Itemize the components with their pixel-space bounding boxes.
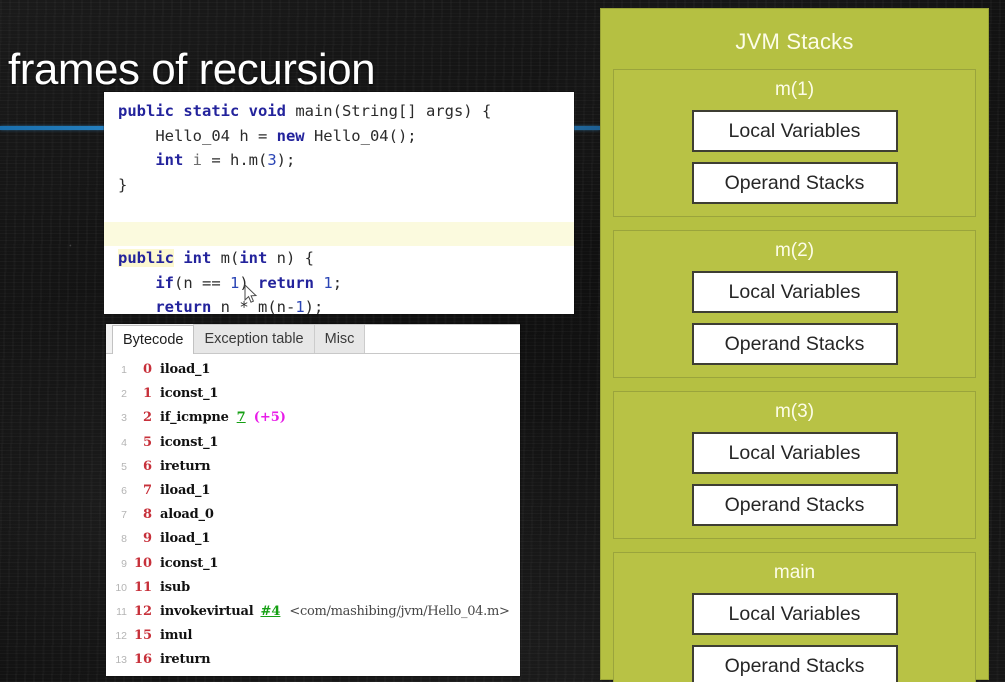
bytecode-mnemonic: if_icmpne — [160, 410, 229, 425]
code-token: 1 — [230, 274, 239, 292]
stack-frame-label: m(1) — [614, 76, 975, 110]
bytecode-row[interactable]: 67iload_1 — [106, 483, 520, 507]
code-token: return — [155, 298, 211, 314]
bytecode-offset: 2 — [134, 410, 160, 425]
code-token — [174, 249, 183, 267]
bytecode-viewer-panel[interactable]: BytecodeException tableMisc. 10iload_121… — [106, 324, 520, 676]
code-line: if(n == 1) return 1; — [104, 271, 574, 296]
stack-frame-m2: m(2)Local VariablesOperand Stacks — [613, 230, 976, 378]
bytecode-offset: 6 — [134, 459, 160, 474]
bytecode-offset: 5 — [134, 435, 160, 450]
stack-frame-label: main — [614, 559, 975, 593]
code-token: i — [183, 151, 211, 169]
bytecode-row[interactable]: 21iconst_1 — [106, 386, 520, 410]
bytecode-offset: 16 — [134, 652, 160, 667]
tab-bar-filler: . — [364, 324, 520, 353]
bytecode-line-number: 10 — [106, 582, 134, 594]
code-token: public — [118, 249, 174, 267]
code-token: new — [277, 127, 305, 145]
code-token: 3 — [267, 151, 276, 169]
code-line-list: public static void main(String[] args) {… — [104, 99, 574, 314]
bytecode-mnemonic: isub — [160, 580, 190, 595]
bytecode-constpool-ref[interactable]: #4 — [260, 604, 280, 619]
bytecode-mnemonic: iconst_1 — [160, 556, 218, 571]
bytecode-offset: 1 — [134, 386, 160, 401]
code-line: Hello_04 h = new Hello_04(); — [104, 124, 574, 149]
code-token: return — [258, 274, 314, 292]
frame-slot-operand-stacks: Operand Stacks — [692, 645, 898, 682]
code-token: 1 — [323, 274, 332, 292]
bytecode-row[interactable]: 1011isub — [106, 580, 520, 604]
bytecode-mnemonic: iconst_1 — [160, 386, 218, 401]
bytecode-row[interactable]: 45iconst_1 — [106, 435, 520, 459]
bytecode-line-number: 11 — [106, 606, 134, 618]
jvm-stacks-panel: JVM Stacks m(1)Local VariablesOperand St… — [600, 8, 989, 680]
tab-bytecode[interactable]: Bytecode — [112, 325, 194, 354]
bytecode-line-number: 3 — [106, 412, 134, 424]
bytecode-tab-bar[interactable]: BytecodeException tableMisc. — [106, 324, 520, 354]
bytecode-mnemonic: imul — [160, 628, 192, 643]
code-line — [104, 222, 574, 247]
bytecode-line-number: 13 — [106, 654, 134, 666]
code-token: } — [118, 176, 127, 194]
stack-frame-label: m(3) — [614, 398, 975, 432]
bytecode-mnemonic: ireturn — [160, 459, 210, 474]
code-token: n) { — [267, 249, 314, 267]
bytecode-ref-descriptor: <com/mashibing/jvm/Hello_04.m> — [289, 604, 509, 619]
bytecode-mnemonic: aload_0 — [160, 507, 214, 522]
code-token: 1 — [295, 298, 304, 314]
tab-exception-table[interactable]: Exception table — [193, 324, 314, 353]
code-token: ); — [305, 298, 324, 314]
code-token: int — [183, 249, 211, 267]
code-line: return n * m(n-1); — [104, 295, 574, 314]
code-line: } — [104, 173, 574, 198]
java-source-editor[interactable]: public static void main(String[] args) {… — [104, 92, 574, 314]
code-token: ; — [333, 274, 342, 292]
code-token — [314, 274, 323, 292]
jvm-stacks-title: JVM Stacks — [613, 9, 976, 69]
frame-slot-local-variables: Local Variables — [692, 432, 898, 474]
code-token: Hello_04(); — [305, 127, 417, 145]
frame-slot-operand-stacks: Operand Stacks — [692, 323, 898, 365]
bytecode-jump-delta: (+5) — [254, 410, 286, 425]
bytecode-row[interactable]: 10iload_1 — [106, 362, 520, 386]
bytecode-mnemonic: invokevirtual — [160, 604, 253, 619]
bytecode-row[interactable]: 56ireturn — [106, 459, 520, 483]
bytecode-line-number: 6 — [106, 485, 134, 497]
code-token: m( — [211, 249, 239, 267]
bytecode-offset: 7 — [134, 483, 160, 498]
bytecode-line-number: 1 — [106, 364, 134, 376]
bytecode-row[interactable]: 1316ireturn — [106, 652, 520, 676]
stack-frame-label: m(2) — [614, 237, 975, 271]
stack-frame-m1: m(1)Local VariablesOperand Stacks — [613, 69, 976, 217]
frame-slot-local-variables: Local Variables — [692, 593, 898, 635]
bytecode-line-number: 8 — [106, 533, 134, 545]
bytecode-row[interactable]: 78aload_0 — [106, 507, 520, 531]
bytecode-mnemonic: iload_1 — [160, 362, 210, 377]
frame-slot-operand-stacks: Operand Stacks — [692, 162, 898, 204]
frame-slot-operand-stacks: Operand Stacks — [692, 484, 898, 526]
bytecode-mnemonic: iconst_1 — [160, 435, 218, 450]
code-line: public static void main(String[] args) { — [104, 99, 574, 124]
bytecode-row[interactable]: 1215imul — [106, 628, 520, 652]
stack-frame-m3: m(3)Local VariablesOperand Stacks — [613, 391, 976, 539]
code-token: int — [239, 249, 267, 267]
bytecode-offset: 9 — [134, 531, 160, 546]
bytecode-mnemonic: iload_1 — [160, 531, 210, 546]
bytecode-jump-target[interactable]: 7 — [237, 410, 246, 425]
code-token — [118, 151, 155, 169]
code-token: (n == — [174, 274, 230, 292]
frame-slot-local-variables: Local Variables — [692, 110, 898, 152]
stack-frame-main: mainLocal VariablesOperand Stacks — [613, 552, 976, 682]
bytecode-line-number: 12 — [106, 630, 134, 642]
bytecode-line-number: 7 — [106, 509, 134, 521]
bytecode-line-number: 5 — [106, 461, 134, 473]
code-token: Hello_04 h = — [118, 127, 277, 145]
tab-misc[interactable]: Misc — [314, 324, 366, 353]
code-token: = h.m( — [211, 151, 267, 169]
code-line: int i = h.m(3); — [104, 148, 574, 173]
bytecode-mnemonic: iload_1 — [160, 483, 210, 498]
bytecode-line-number: 2 — [106, 388, 134, 400]
code-token: if — [155, 274, 174, 292]
code-token — [118, 274, 155, 292]
code-token: public static void — [118, 102, 286, 120]
code-token: main(String[] args) { — [286, 102, 491, 120]
frame-slot-local-variables: Local Variables — [692, 271, 898, 313]
bytecode-offset: 0 — [134, 362, 160, 377]
bytecode-mnemonic: ireturn — [160, 652, 210, 667]
bytecode-offset: 11 — [134, 580, 160, 595]
bytecode-offset: 8 — [134, 507, 160, 522]
bytecode-row[interactable]: 89iload_1 — [106, 531, 520, 555]
page-title: frames of recursion — [8, 42, 375, 98]
mouse-pointer-icon — [244, 284, 258, 304]
bytecode-line-number: 9 — [106, 558, 134, 570]
bytecode-instruction-list: 10iload_121iconst_132if_icmpne7(+5)45ico… — [106, 354, 520, 676]
code-token: int — [155, 151, 183, 169]
bytecode-line-number: 4 — [106, 437, 134, 449]
code-line — [104, 197, 574, 222]
bytecode-row[interactable]: 910iconst_1 — [106, 556, 520, 580]
bytecode-offset: 12 — [134, 604, 160, 619]
jvm-stack-frame-list: m(1)Local VariablesOperand Stacksm(2)Loc… — [613, 69, 976, 682]
bytecode-row[interactable]: 1112invokevirtual#4<com/mashibing/jvm/He… — [106, 604, 520, 628]
bytecode-offset: 10 — [134, 556, 160, 571]
bytecode-row[interactable]: 32if_icmpne7(+5) — [106, 410, 520, 434]
code-line: public int m(int n) { — [104, 246, 574, 271]
code-token: ); — [277, 151, 296, 169]
code-token — [118, 298, 155, 314]
bytecode-offset: 15 — [134, 628, 160, 643]
